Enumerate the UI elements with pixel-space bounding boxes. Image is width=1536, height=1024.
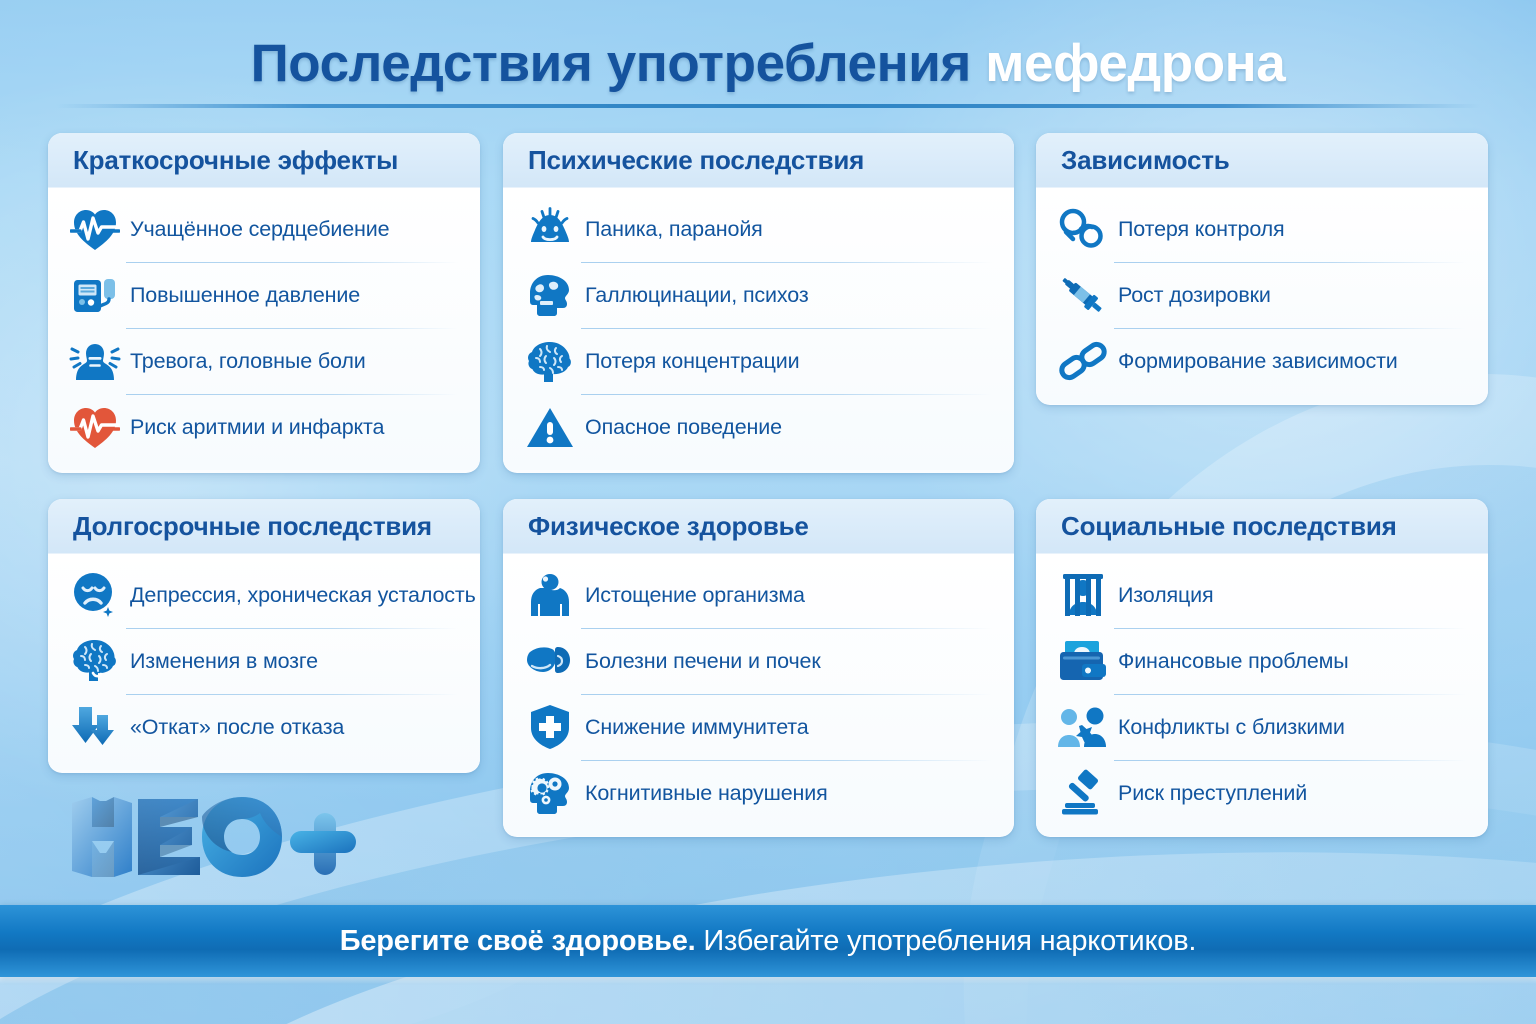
card-header: Долгосрочные последствия [48, 499, 480, 554]
list-item-label: Риск аритмии и инфаркта [126, 415, 384, 440]
footer-banner: Берегите своё здоровье. Избегайте употре… [0, 905, 1536, 977]
list-item[interactable]: Болезни печени и почек [519, 628, 998, 694]
heart-pulse-alert-icon [64, 401, 126, 453]
list-item-label: Опасное поведение [581, 415, 782, 440]
brain-change-icon [64, 635, 126, 687]
blood-pressure-monitor-icon [64, 269, 126, 321]
list-item-label: Снижение иммунитета [581, 715, 809, 740]
list-item-label: Конфликты с близкими [1114, 715, 1345, 740]
list-item-label: Финансовые проблемы [1114, 649, 1349, 674]
list-item[interactable]: Потеря концентрации [519, 328, 998, 394]
list-item[interactable]: Изоляция [1052, 562, 1472, 628]
list-item[interactable]: Паника, паранойя [519, 196, 998, 262]
card-long-term-consequences: Долгосрочные последствия Депрессия, хрон… [48, 499, 480, 773]
card-body: Депрессия, хроническая усталость Изменен… [48, 554, 480, 770]
list-item[interactable]: Когнитивные нарушения [519, 760, 998, 826]
list-item-label: Депрессия, хроническая усталость [126, 583, 476, 608]
card-social-consequences: Социальные последствия Изоляция Финансов… [1036, 499, 1488, 837]
list-item-label: Потеря концентрации [581, 349, 799, 374]
card-physical-health: Физическое здоровье Истощение организма … [503, 499, 1014, 837]
card-header: Краткосрочные эффекты [48, 133, 480, 188]
card-mental-consequences: Психические последствия Паника, паранойя… [503, 133, 1014, 473]
card-title: Зависимость [1061, 145, 1230, 176]
exhausted-person-icon [519, 569, 581, 621]
card-header: Зависимость [1036, 133, 1488, 188]
list-item-label: Болезни печени и почек [581, 649, 821, 674]
card-title: Краткосрочные эффекты [73, 145, 398, 176]
list-item[interactable]: Конфликты с близкими [1052, 694, 1472, 760]
brain-icon [519, 335, 581, 387]
head-gears-icon [519, 767, 581, 819]
list-item-label: Изменения в мозге [126, 649, 318, 674]
list-item[interactable]: Потеря контроля [1052, 196, 1472, 262]
list-item-label: Тревога, головные боли [126, 349, 366, 374]
card-header: Физическое здоровье [503, 499, 1014, 554]
gavel-icon [1052, 767, 1114, 819]
card-body: Истощение организма Болезни печени и поч… [503, 554, 1014, 836]
footer-message: Берегите своё здоровье. Избегайте употре… [340, 925, 1197, 958]
list-item[interactable]: Изменения в мозге [64, 628, 464, 694]
list-item-label: Формирование зависимости [1114, 349, 1398, 374]
list-item-label: Изоляция [1114, 583, 1214, 608]
list-item[interactable]: Депрессия, хроническая усталость [64, 562, 464, 628]
list-item-label: Истощение организма [581, 583, 805, 608]
chain-link-icon [1052, 335, 1114, 387]
shield-cross-icon [519, 701, 581, 753]
list-item-label: «Откат» после отказа [126, 715, 344, 740]
list-item[interactable]: Формирование зависимости [1052, 328, 1472, 394]
card-short-term-effects: Краткосрочные эффекты Учащённое сердцеби… [48, 133, 480, 473]
handcuffs-icon [1052, 203, 1114, 255]
card-body: Потеря контроля Рост дозировки Формирова… [1036, 188, 1488, 404]
list-item-label: Потеря контроля [1114, 217, 1285, 242]
card-header: Психические последствия [503, 133, 1014, 188]
headache-person-icon [64, 335, 126, 387]
card-title: Психические последствия [528, 145, 864, 176]
head-hallucination-icon [519, 269, 581, 321]
list-item[interactable]: Риск преступлений [1052, 760, 1472, 826]
list-item[interactable]: Повышенное давление [64, 262, 464, 328]
list-item-label: Риск преступлений [1114, 781, 1307, 806]
card-title: Долгосрочные последствия [73, 511, 432, 542]
list-item[interactable]: Истощение организма [519, 562, 998, 628]
list-item[interactable]: Финансовые проблемы [1052, 628, 1472, 694]
liver-kidney-icon [519, 635, 581, 687]
list-item-label: Рост дозировки [1114, 283, 1271, 308]
list-item[interactable]: Учащённое сердцебиение [64, 196, 464, 262]
list-item-label: Паника, паранойя [581, 217, 763, 242]
wallet-icon [1052, 635, 1114, 687]
list-item[interactable]: Снижение иммунитета [519, 694, 998, 760]
warning-triangle-icon [519, 401, 581, 453]
list-item-label: Повышенное давление [126, 283, 360, 308]
panic-face-icon [519, 203, 581, 255]
card-body: Паника, паранойя Галлюцинации, психоз По… [503, 188, 1014, 470]
heart-pulse-icon [64, 203, 126, 255]
list-item-label: Галлюцинации, психоз [581, 283, 809, 308]
brand-logo [66, 793, 356, 888]
card-body: Изоляция Финансовые проблемы Конфликты с… [1036, 554, 1488, 836]
syringe-icon [1052, 269, 1114, 321]
down-arrows-icon [64, 701, 126, 753]
list-item[interactable]: Галлюцинации, психоз [519, 262, 998, 328]
footer-message-normal: Избегайте употребления наркотиков. [695, 925, 1196, 957]
list-item[interactable]: Тревога, головные боли [64, 328, 464, 394]
list-item[interactable]: «Откат» после отказа [64, 694, 464, 760]
card-title: Социальные последствия [1061, 511, 1397, 542]
card-body: Учащённое сердцебиение Повышенное давлен… [48, 188, 480, 470]
list-item-label: Учащённое сердцебиение [126, 217, 389, 242]
list-item[interactable]: Опасное поведение [519, 394, 998, 460]
conflict-people-icon [1052, 701, 1114, 753]
list-item[interactable]: Риск аритмии и инфаркта [64, 394, 464, 460]
list-item[interactable]: Рост дозировки [1052, 262, 1472, 328]
person-behind-bars-icon [1052, 569, 1114, 621]
card-header: Социальные последствия [1036, 499, 1488, 554]
card-title: Физическое здоровье [528, 511, 809, 542]
sad-face-icon [64, 569, 126, 621]
list-item-label: Когнитивные нарушения [581, 781, 828, 806]
footer-message-bold: Берегите своё здоровье. [340, 925, 696, 957]
card-addiction: Зависимость Потеря контроля Рост дозиров… [1036, 133, 1488, 405]
